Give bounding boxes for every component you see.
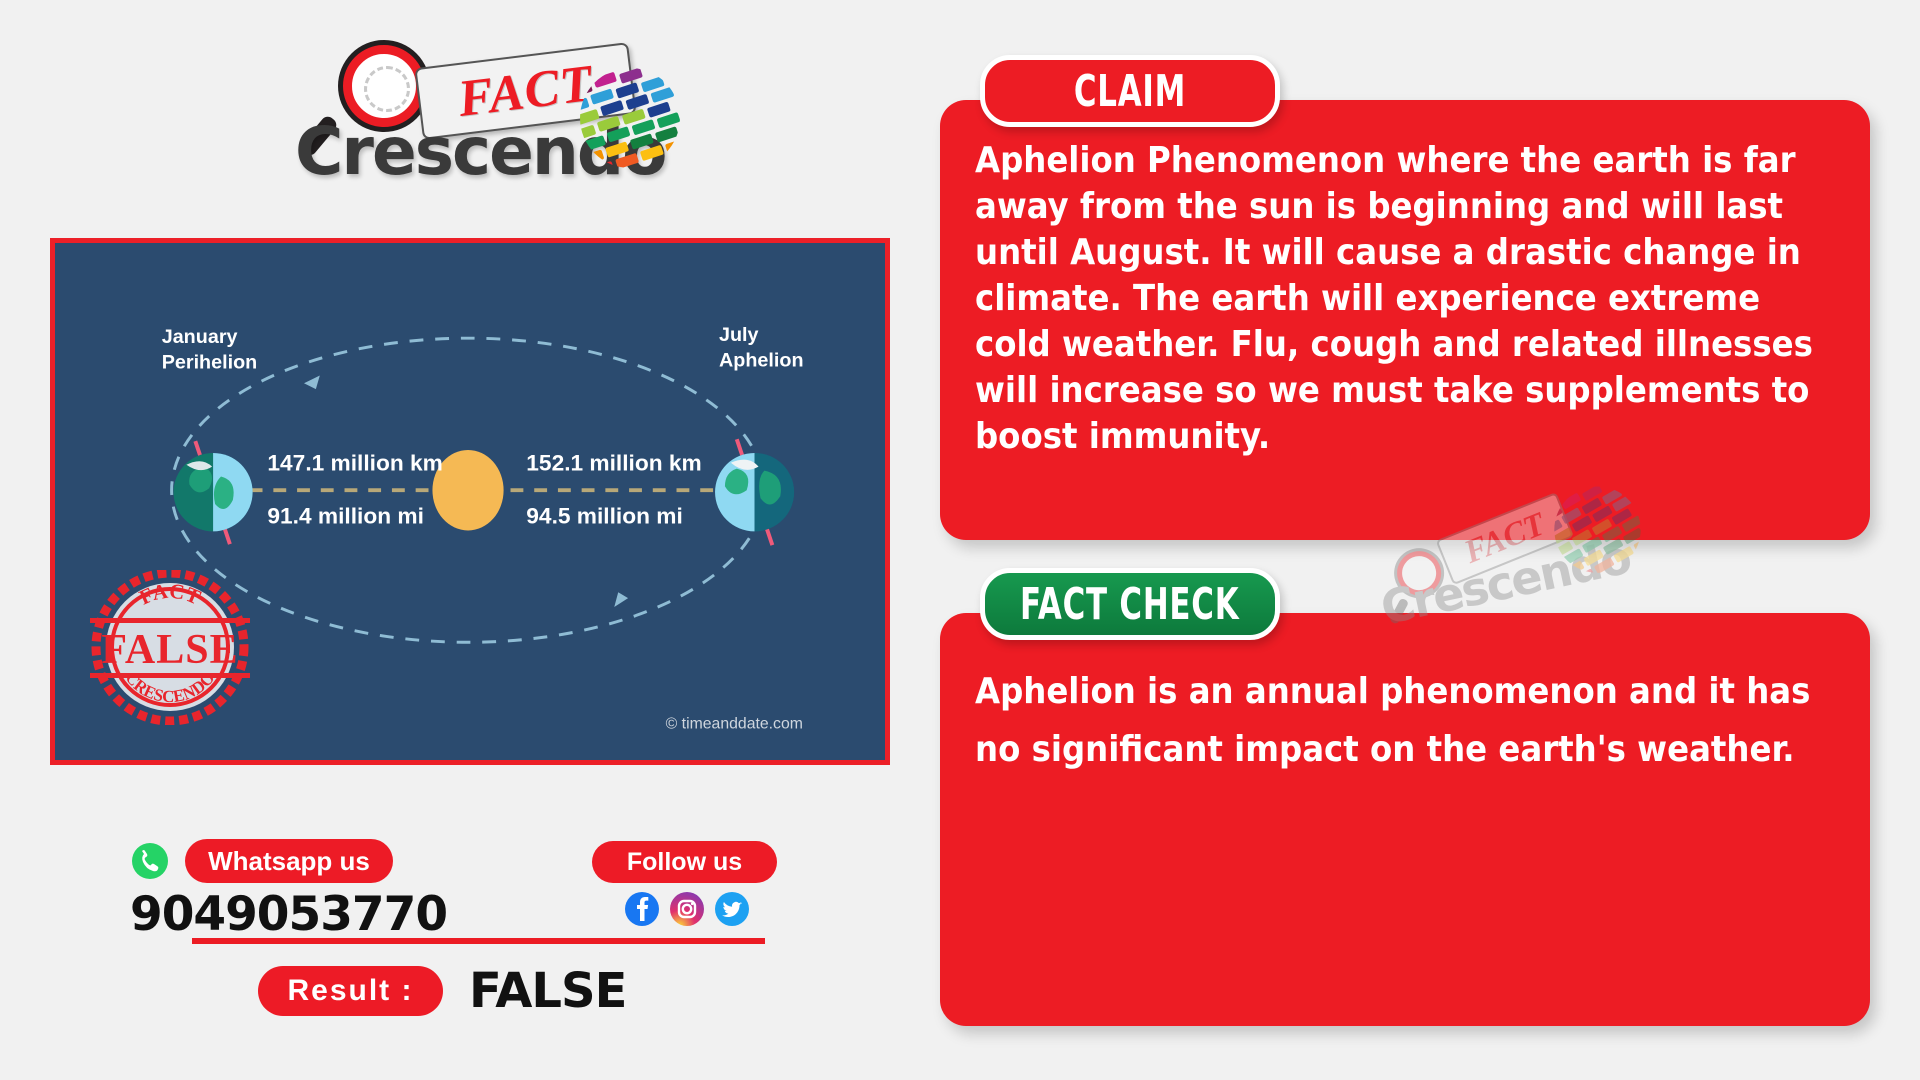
contact-row: Whatsapp us 9049053770 Follow us	[130, 825, 810, 945]
result-row: Result : FALSE	[258, 962, 626, 1020]
sun-icon	[432, 450, 503, 530]
facebook-icon[interactable]	[624, 891, 660, 927]
follow-us-button[interactable]: Follow us	[592, 841, 777, 883]
factcheck-card: Aphelion is an annual phenomenon and it …	[940, 613, 1870, 1026]
whatsapp-icon[interactable]	[130, 841, 170, 881]
brand-logo: FACT Crescendo	[295, 35, 640, 180]
perihelion-label-line2: Perihelion	[162, 352, 258, 374]
aphelion-distance-km: 152.1 million km	[526, 451, 701, 476]
right-column: Aphelion Phenomenon where the earth is f…	[935, 0, 1920, 1080]
factcheck-text: Aphelion is an annual phenomenon and it …	[975, 663, 1837, 780]
claim-badge: CLAIM	[980, 55, 1280, 127]
result-label-badge: Result :	[258, 966, 443, 1016]
claim-text: Aphelion Phenomenon where the earth is f…	[975, 138, 1837, 461]
instagram-icon[interactable]	[669, 891, 705, 927]
whatsapp-label: Whatsapp us	[208, 846, 370, 877]
result-label: Result :	[287, 974, 413, 1008]
earth-aphelion-icon	[715, 439, 794, 545]
magnifier-lens-ring	[364, 66, 410, 112]
aphelion-distance-mi: 94.5 million mi	[526, 504, 682, 529]
false-verdict-stamp: FACT CRESCENDO FALSE	[88, 570, 253, 725]
social-icons	[624, 891, 750, 927]
whatsapp-us-button[interactable]: Whatsapp us	[185, 839, 393, 883]
claim-card: Aphelion Phenomenon where the earth is f…	[940, 100, 1870, 540]
perihelion-distance-km: 147.1 million km	[267, 451, 442, 476]
left-column: FACT Crescendo	[0, 0, 930, 1080]
perihelion-distance-mi: 91.4 million mi	[267, 504, 423, 529]
orbit-arrow-bottom	[614, 592, 628, 607]
factcheck-badge: FACT CHECK	[980, 568, 1280, 640]
twitter-icon[interactable]	[714, 891, 750, 927]
earth-perihelion-icon	[174, 441, 253, 544]
diagram-credit: © timeanddate.com	[666, 716, 803, 733]
aphelion-label-line1: July	[719, 324, 759, 346]
result-value: FALSE	[469, 963, 626, 1019]
factcheck-badge-label: FACT CHECK	[1020, 579, 1240, 630]
whatsapp-number: 9049053770	[130, 887, 447, 942]
claim-badge-label: CLAIM	[1074, 66, 1186, 117]
aphelion-label-line2: Aphelion	[719, 350, 804, 372]
orbit-arrow-top	[304, 375, 320, 389]
globe-icon	[573, 63, 683, 173]
divider	[192, 938, 765, 944]
follow-label: Follow us	[627, 848, 742, 877]
perihelion-label-line1: January	[162, 326, 238, 348]
stamp-main-text: FALSE	[101, 627, 238, 673]
